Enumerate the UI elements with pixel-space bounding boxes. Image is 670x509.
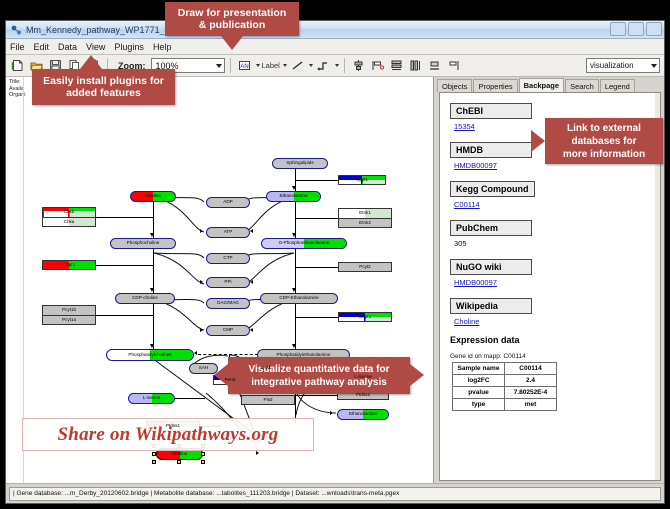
node-label: Ptdss1	[166, 424, 180, 429]
node-label: O-Phosphoethanolamine	[279, 241, 330, 246]
edge-etnk-to-backbone	[295, 218, 338, 219]
node-ethanolamine-top[interactable]: Ethanolamine	[266, 191, 321, 202]
callout-draw-pointer	[221, 36, 243, 50]
edge-lserine-link	[175, 398, 205, 399]
chevron-down-icon[interactable]	[256, 64, 260, 67]
node-label: Choline	[172, 452, 188, 457]
table-row: Sample name C00114	[453, 363, 557, 375]
window-titlebar: Mm_Kennedy_pathway_WP1771_45176.gpml	[6, 21, 664, 39]
menu-view[interactable]: View	[86, 42, 105, 52]
arrow-down-icon	[292, 233, 296, 237]
callout-link-line2: databases for	[571, 135, 636, 148]
callout-link-line1: Link to external	[567, 122, 641, 135]
edge-sgpl1-to-backbone	[295, 180, 338, 181]
menu-help[interactable]: Help	[153, 42, 172, 52]
chevron-down-icon[interactable]	[335, 64, 339, 67]
cell-key: pvalue	[453, 387, 505, 399]
node-label: SAM	[261, 366, 271, 371]
edge-pcyt1-to-backbone	[96, 315, 153, 316]
chevron-down-icon	[651, 64, 657, 68]
arrow-right-icon	[200, 229, 203, 233]
node-etnk2[interactable]: Etnk2	[338, 218, 392, 228]
cell-key: Sample name	[453, 363, 505, 375]
statusbar: | Gene database: ...m_Derby_20120602.bri…	[6, 483, 664, 503]
node-label: Pcyt1a	[62, 318, 76, 323]
node-pcyt1a[interactable]: Pcyt1a	[42, 315, 96, 325]
window-controls[interactable]	[610, 22, 662, 36]
node-label: Cept1	[359, 315, 371, 320]
handle-bottom-center[interactable]	[177, 460, 181, 464]
callout-plugins-line1: Easily install plugins for	[43, 75, 164, 87]
close-button[interactable]	[646, 22, 662, 36]
align-center-icon[interactable]	[350, 57, 367, 74]
node-label: Phosphatidylcholines	[128, 353, 171, 358]
node-pisd[interactable]: Pisd	[241, 395, 295, 405]
arrow-down-icon	[150, 233, 154, 237]
node-label: Sgpl1	[356, 178, 368, 183]
cell-key: type	[453, 399, 505, 411]
menu-plugins[interactable]: Plugins	[114, 42, 144, 52]
link-nugo[interactable]: HMDB00097	[454, 278, 660, 287]
node-ppi[interactable]: PPi	[206, 277, 250, 288]
distribute-vertical-icon[interactable]	[388, 57, 405, 74]
node-label: Chpt1	[63, 263, 75, 268]
edge-cept1-to-backbone	[295, 317, 338, 318]
node-label: Ptdss2	[356, 393, 370, 398]
link-kegg[interactable]: C00114	[454, 200, 660, 209]
arrow-left-icon	[250, 280, 253, 284]
distribute-horizontal-icon[interactable]	[407, 57, 424, 74]
node-ctp[interactable]: CTP	[206, 253, 250, 264]
section-header-hmdb: HMDB	[450, 142, 532, 158]
section-header-kegg: Kegg Compound	[450, 181, 535, 197]
visualization-value: visualization	[590, 61, 634, 70]
edge-ptdss2-link	[295, 395, 337, 396]
callout-draw: Draw for presentation & publication	[165, 2, 299, 36]
menu-edit[interactable]: Edit	[34, 42, 50, 52]
section-header-nugo: NuGO wiki	[450, 259, 532, 275]
node-label: PPi	[224, 280, 231, 285]
arrow-left-icon	[250, 229, 253, 233]
node-label: CDP-choline	[132, 296, 158, 301]
node-etnk1[interactable]: Etnk1	[338, 208, 392, 218]
node-phosphocholine[interactable]: Phosphocholine	[110, 238, 176, 249]
handle-bottom-left[interactable]	[152, 460, 156, 464]
node-cdp-choline[interactable]: CDP-choline	[115, 293, 175, 304]
node-chpt1[interactable]: Chpt1	[42, 260, 96, 270]
node-o-phosphoethanolamine[interactable]: O-Phosphoethanolamine	[261, 238, 347, 249]
edge-ophospho-cdpetn	[295, 249, 296, 293]
section-header-pubchem: PubChem	[450, 220, 532, 236]
edge-phosphocholine-cdpcholine	[153, 249, 154, 293]
line-icon[interactable]	[289, 57, 306, 74]
tab-objects[interactable]: Objects	[437, 79, 472, 92]
tab-properties[interactable]: Properties	[473, 79, 517, 92]
node-label: Chkb	[64, 210, 75, 215]
node-dagmag[interactable]: DAG/MAG	[206, 298, 250, 309]
callout-visualize-pointer-left	[214, 364, 228, 386]
section-header-chebi: ChEBI	[450, 103, 532, 119]
node-pcyt1b[interactable]: Pcyt1b	[42, 305, 96, 315]
node-cept1[interactable]: Cept1	[338, 312, 392, 322]
callout-link-pointer	[531, 130, 545, 152]
cell-value: 2.4	[505, 375, 557, 387]
node-label: L-Serine	[354, 375, 371, 380]
edge-pcyt2-to-backbone	[295, 267, 338, 268]
expression-table: Sample name C00114 log2FC 2.4 pvalue 7.8…	[452, 362, 557, 411]
node-label: Pcyt1b	[62, 308, 76, 313]
callout-link-line3: more information	[563, 148, 645, 161]
edge-cdpcholine-ptdcholine	[153, 304, 154, 349]
maximize-button[interactable]	[628, 22, 644, 36]
arrow-right-icon	[200, 280, 203, 284]
chevron-down-icon[interactable]	[309, 64, 313, 67]
node-phosphatidylcholines[interactable]: Phosphatidylcholines	[106, 349, 194, 361]
arrow-left-icon	[194, 351, 197, 355]
stack-bottom-icon[interactable]	[426, 57, 443, 74]
callout-link: Link to external databases for more info…	[545, 118, 663, 164]
node-pcyt2[interactable]: Pcyt2	[338, 262, 392, 272]
arrow-right-icon	[256, 451, 259, 455]
node-label: Pisd	[264, 398, 273, 403]
status-message-area: | Gene database: ...m_Derby_20120602.bri…	[9, 487, 661, 501]
status-text: | Gene database: ...m_Derby_20120602.bri…	[13, 490, 399, 497]
node-label: Choline	[145, 194, 161, 199]
arrow-down-icon	[292, 288, 296, 292]
edge-chpt1-to-backbone	[96, 265, 153, 266]
text-label-icon[interactable]: AN	[236, 57, 253, 74]
node-label: CTP	[223, 256, 232, 261]
node-chkb[interactable]: Chkb	[42, 207, 96, 217]
arrow-left-icon	[250, 328, 253, 332]
handle-middle-left[interactable]	[152, 452, 156, 456]
tab-backpage[interactable]: Backpage	[519, 78, 564, 92]
callout-plugins-line2: added features	[66, 87, 141, 99]
node-label: Sphingolipids	[286, 161, 313, 166]
node-label: Ethanolamine	[279, 194, 307, 199]
node-chka[interactable]: Chka	[42, 217, 96, 227]
arrow-right-icon	[330, 411, 333, 415]
node-label: Etnk2	[359, 221, 371, 226]
cell-key: log2FC	[453, 375, 505, 387]
minimize-button[interactable]	[610, 22, 626, 36]
callout-plugins: Easily install plugins for added feature…	[32, 69, 175, 105]
node-choline-top[interactable]: Choline	[130, 191, 176, 202]
cell-value: 7.80252E-4	[505, 387, 557, 399]
tab-legend[interactable]: Legend	[600, 79, 635, 92]
node-label: ATP	[224, 230, 233, 235]
edge-cdpetn-ptdetn	[295, 304, 296, 349]
node-cdp-ethanolamine[interactable]: CDP-Ethanolamine	[260, 293, 338, 304]
node-label: Phosphatidylethanolamine	[277, 353, 331, 358]
toolbar-separator-3	[344, 58, 345, 73]
node-sphingolipids[interactable]: Sphingolipids	[272, 158, 328, 169]
node-label: SAH	[199, 366, 208, 371]
node-adp[interactable]: ADP	[206, 197, 250, 208]
handle-bottom-right[interactable]	[201, 460, 205, 464]
expression-data-title: Expression data	[450, 335, 660, 345]
edge-pemt-pe-to-pc	[198, 354, 258, 355]
node-label: Ethanolamine	[349, 412, 377, 417]
label-dropdown-text[interactable]: Label	[262, 61, 280, 70]
arrow-down-icon	[150, 344, 154, 348]
node-label: Pemt	[225, 378, 236, 383]
pathvisio-icon	[10, 24, 22, 36]
align-right-icon[interactable]	[445, 57, 462, 74]
node-label: Pcyt2	[359, 265, 371, 270]
node-atp[interactable]: ATP	[206, 227, 250, 238]
table-row: type met	[453, 399, 557, 411]
node-label: L-Serine	[143, 396, 160, 401]
menu-data[interactable]: Data	[58, 42, 77, 52]
toolbar-separator-2	[230, 58, 231, 73]
edge-chk-to-backbone	[96, 217, 153, 218]
node-l-serine-left[interactable]: L-Serine	[128, 393, 175, 404]
visualization-combobox[interactable]: visualization	[586, 58, 660, 73]
callout-visualize: Visualize quantitative data for integrat…	[228, 357, 410, 394]
arrow-down-icon	[292, 186, 296, 190]
link-wikipedia[interactable]: Choline	[454, 317, 660, 326]
panel-tabs: Objects Properties Backpage Search Legen…	[434, 77, 664, 92]
arrow-right-icon	[200, 328, 203, 332]
value-pubchem: 305	[454, 239, 660, 248]
callout-draw-line2: & publication	[199, 19, 266, 31]
callout-visualize-pointer-right	[410, 364, 424, 386]
table-row: pvalue 7.80252E-4	[453, 387, 557, 399]
node-cmp[interactable]: CMP	[206, 325, 250, 336]
tab-search[interactable]: Search	[565, 79, 599, 92]
section-header-wikipedia: Wikipedia	[450, 298, 532, 314]
align-left-icon[interactable]	[369, 57, 386, 74]
node-label: CDP-Ethanolamine	[279, 296, 318, 301]
arrow-down-icon	[150, 288, 154, 292]
svg-text:AN: AN	[240, 64, 248, 70]
callout-plugins-pointer	[80, 55, 102, 69]
node-label: Etnk1	[359, 211, 371, 216]
node-label: ADP	[223, 200, 232, 205]
cell-value: C00114	[505, 363, 557, 375]
connector-icon[interactable]	[315, 57, 332, 74]
node-label: CMP	[223, 328, 233, 333]
node-sgpl1[interactable]: Sgpl1	[338, 175, 386, 185]
arrow-down-icon	[292, 344, 296, 348]
chevron-down-icon[interactable]	[283, 64, 287, 67]
cell-value: met	[505, 399, 557, 411]
new-document-icon[interactable]	[9, 57, 26, 74]
node-label: Phosphocholine	[127, 241, 160, 246]
handle-middle-right[interactable]	[201, 452, 205, 456]
screenshot-root: Mm_Kennedy_pathway_WP1771_45176.gpml Fil…	[0, 0, 670, 509]
callout-draw-line1: Draw for presentation	[178, 7, 287, 19]
menu-file[interactable]: File	[10, 42, 25, 52]
node-ethanolamine-bottom[interactable]: Ethanolamine	[337, 409, 389, 420]
node-label: Chka	[64, 220, 75, 225]
menubar: File Edit Data View Plugins Help	[6, 39, 664, 55]
table-row: log2FC 2.4	[453, 375, 557, 387]
chevron-down-icon	[216, 64, 222, 68]
gene-id-on-mapp: Gene id on mapp: C00114	[450, 353, 660, 360]
node-label: DAG/MAG	[217, 301, 239, 306]
